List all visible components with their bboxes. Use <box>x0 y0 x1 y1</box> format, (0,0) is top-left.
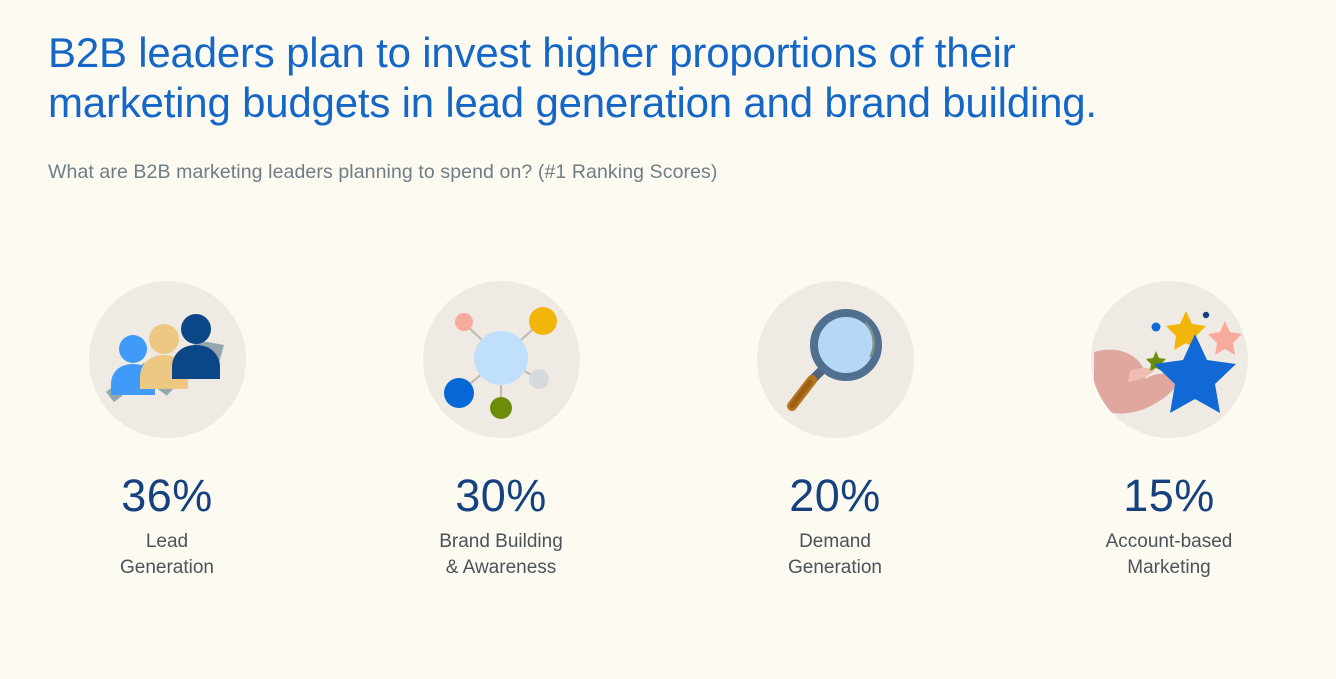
page-subtitle: What are B2B marketing leaders planning … <box>48 159 1228 185</box>
header: B2B leaders plan to invest higher propor… <box>48 28 1228 185</box>
icon-circle-account-based-marketing <box>1091 281 1248 438</box>
stat-value: 36% <box>121 471 213 520</box>
magnifying-glass-icon <box>780 302 890 418</box>
infographic-page: B2B leaders plan to invest higher propor… <box>0 0 1336 679</box>
hand-holding-stars-icon <box>1094 299 1244 421</box>
network-hub-icon <box>439 300 564 420</box>
icon-circle-brand-building <box>423 281 580 438</box>
stat-label: Brand Building & Awareness <box>439 529 563 580</box>
page-title: B2B leaders plan to invest higher propor… <box>48 28 1183 128</box>
stat-label: Account-based Marketing <box>1106 529 1233 580</box>
people-growth-arrow-icon <box>102 305 232 415</box>
stat-value: 30% <box>455 471 547 520</box>
stat-label: Lead Generation <box>120 529 214 580</box>
stat-card-brand-building: 30% Brand Building & Awareness <box>334 281 668 580</box>
stats-row: 36% Lead Generation <box>0 281 1336 580</box>
stat-label: Demand Generation <box>788 529 882 580</box>
stat-card-lead-generation: 36% Lead Generation <box>0 281 334 580</box>
stat-value: 20% <box>789 471 881 520</box>
icon-circle-lead-generation <box>89 281 246 438</box>
icon-circle-demand-generation <box>757 281 914 438</box>
stat-card-account-based-marketing: 15% Account-based Marketing <box>1002 281 1336 580</box>
stat-value: 15% <box>1123 471 1215 520</box>
stat-card-demand-generation: 20% Demand Generation <box>668 281 1002 580</box>
